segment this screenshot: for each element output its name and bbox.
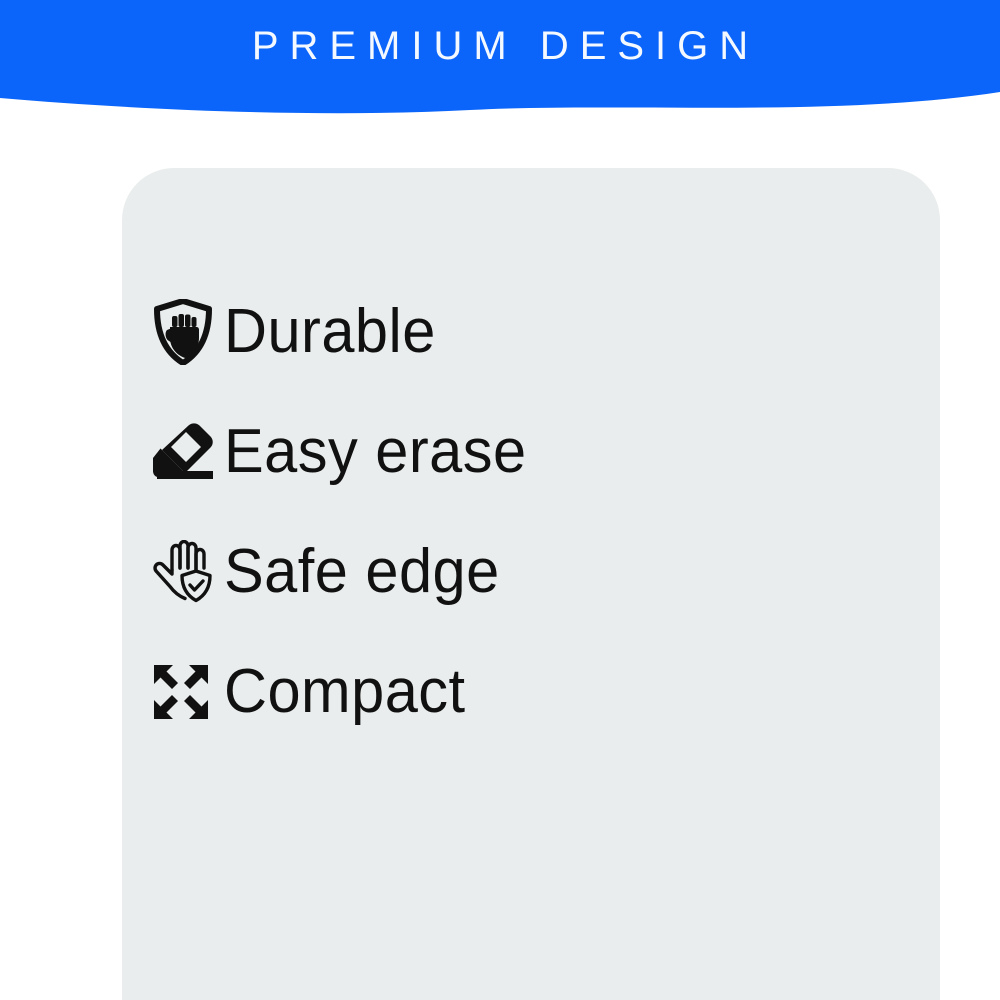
- eraser-icon: [152, 416, 224, 488]
- feature-row: Compact: [152, 632, 792, 752]
- promo-page: PREMIUM DESIGN: [0, 0, 1000, 1000]
- banner: PREMIUM DESIGN: [0, 0, 1000, 118]
- hand-shield-check-icon: [152, 536, 224, 608]
- compress-arrows-icon: [152, 656, 224, 728]
- shield-fist-icon: [152, 296, 224, 368]
- feature-label: Compact: [224, 661, 466, 723]
- banner-title: PREMIUM DESIGN: [0, 0, 1000, 92]
- feature-label: Easy erase: [224, 421, 527, 483]
- feature-row: Durable: [152, 272, 792, 392]
- feature-row: Safe edge: [152, 512, 792, 632]
- feature-row: Easy erase: [152, 392, 792, 512]
- feature-label: Safe edge: [224, 541, 500, 603]
- feature-label: Durable: [224, 301, 436, 363]
- feature-list: Durable Easy erase: [152, 272, 792, 752]
